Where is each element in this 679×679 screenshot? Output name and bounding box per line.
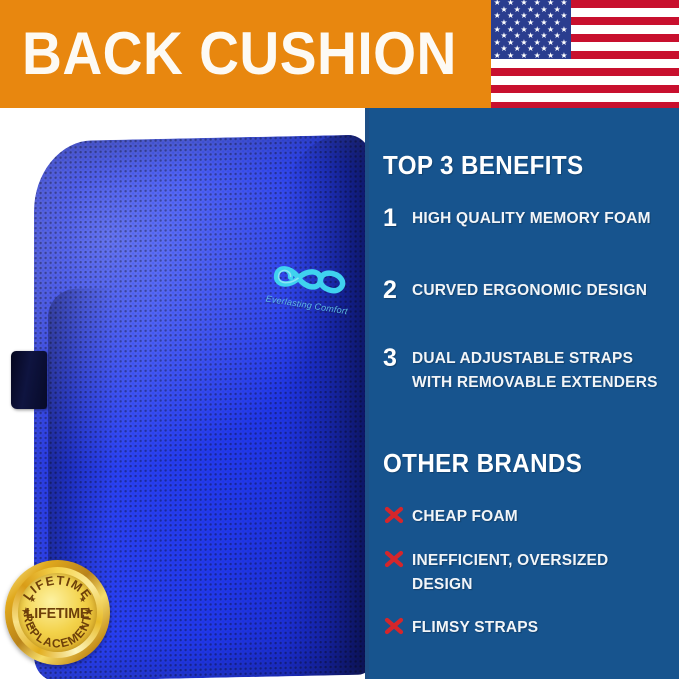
flag-star-icon: ★ <box>494 52 501 60</box>
benefit-label: HIGH QUALITY MEMORY FOAM <box>412 207 667 231</box>
brand-logo: Everlasting Comfort <box>257 255 359 331</box>
flag-star-icon: ★ <box>560 12 567 20</box>
benefit-label: DUAL ADJUSTABLE STRAPS WITH REMOVABLE EX… <box>412 347 667 395</box>
benefit-number: 3 <box>383 346 405 371</box>
red-x-icon <box>383 616 405 636</box>
badge-star-icon: ★ <box>79 594 86 605</box>
flag-star-icon: ★ <box>534 52 541 60</box>
other-brand-label: INEFFICIENT, OVERSIZED DESIGN <box>412 549 667 597</box>
adjustable-strap-upper <box>11 351 47 409</box>
cushion-fold <box>48 288 114 589</box>
flag-stripe <box>491 59 679 67</box>
red-x-icon <box>383 549 405 569</box>
flag-star-icon: ★ <box>560 39 567 47</box>
flag-star-icon: ★ <box>560 26 567 34</box>
badge-center-label: LIFETIME <box>8 606 108 621</box>
badge-star-icon: ★ <box>29 594 36 605</box>
benefit-number: 2 <box>383 278 405 303</box>
flag-stripe <box>491 93 679 101</box>
flag-star-icon: ★ <box>560 0 567 7</box>
other-brand-label: CHEAP FOAM <box>412 505 667 529</box>
page-title: BACK CUSHION <box>22 16 445 92</box>
flag-star-icon: ★ <box>520 52 527 60</box>
other-brands-heading: OTHER BRANDS <box>383 448 582 478</box>
flag-stripe <box>491 76 679 84</box>
other-brand-label: FLIMSY STRAPS <box>412 616 667 640</box>
flag-star-icon: ★ <box>507 52 514 60</box>
flag-star-icon: ★ <box>547 52 554 60</box>
usa-flag-icon: ★★★★★★★★★★★★★★★★★★★★★★★★★★★★★★★★★★★★★★★★… <box>491 0 679 110</box>
benefit-label: CURVED ERGONOMIC DESIGN <box>412 279 667 303</box>
flag-stripe <box>491 85 679 93</box>
badge-star-icon: ★ <box>79 622 86 633</box>
flag-stripe <box>491 68 679 76</box>
benefit-number: 1 <box>383 206 405 231</box>
flag-canton: ★★★★★★★★★★★★★★★★★★★★★★★★★★★★★★★★★★★★★★★★… <box>491 0 571 59</box>
red-x-icon <box>383 505 405 525</box>
flag-star-icon: ★ <box>560 52 567 60</box>
lifetime-replacement-badge: LIFETIME REPLACEMENT ★ ★ ★ ★ ★ ★ LIFETIM… <box>5 560 110 665</box>
product-infographic: BACK CUSHION ★★★★★★★★★★★★★★★★★★★★★★★★★★★… <box>0 0 679 679</box>
benefits-heading: TOP 3 BENEFITS <box>383 150 584 180</box>
cushion-shading <box>284 134 367 676</box>
panel-left-edge <box>365 108 369 679</box>
badge-star-icon: ★ <box>29 622 36 633</box>
